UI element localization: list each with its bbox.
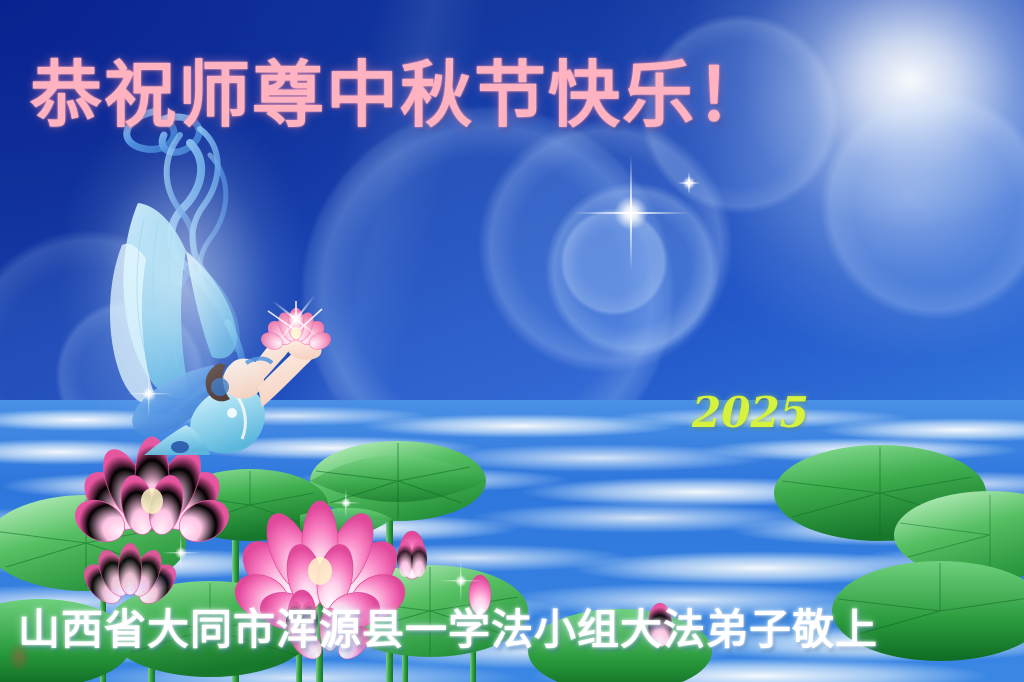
lotus-bud — [397, 531, 427, 579]
sparkle-star-icon — [148, 393, 149, 394]
sparkle-star-icon — [460, 580, 461, 581]
greeting-card: 恭祝师尊中秋节快乐！ 2025 山西省大同市浑源县一学法小组大法弟子敬上 — [0, 0, 1024, 682]
sparkle-star-icon — [688, 182, 689, 183]
sparkle-star-icon — [630, 212, 631, 213]
red-seal-watermark — [8, 642, 30, 672]
fairy-aura-glow — [70, 95, 320, 465]
sparkle-star-icon — [295, 318, 296, 319]
greeting-title: 恭祝师尊中秋节快乐！ — [30, 36, 770, 141]
sparkle-star-icon — [345, 502, 346, 503]
year-label: 2025 — [692, 388, 809, 437]
signature-text: 山西省大同市浑源县一学法小组大法弟子敬上 — [18, 596, 878, 657]
sparkle-star-icon — [180, 552, 181, 553]
celestial-fairy-figure — [60, 95, 360, 455]
